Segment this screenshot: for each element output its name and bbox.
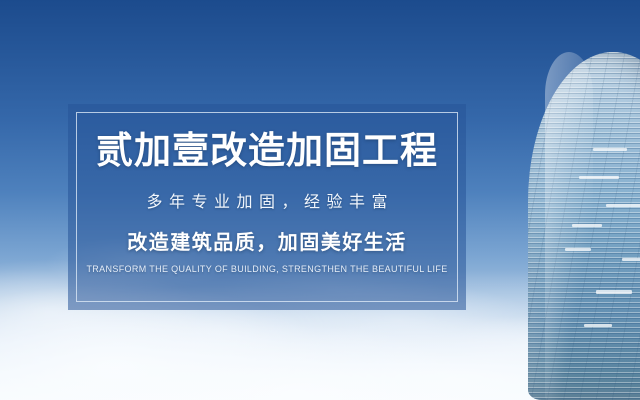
skyscraper-window: [596, 290, 632, 294]
skyscraper-window: [565, 248, 591, 251]
skyscraper-image: [510, 0, 640, 400]
skyscraper-window: [622, 258, 640, 261]
skyscraper-body: [528, 52, 640, 400]
english-tagline-text: TRANSFORM THE QUALITY OF BUILDING, STREN…: [86, 264, 447, 274]
hero-text-panel: 贰加壹改造加固工程 多年专业加固，经验丰富 改造建筑品质，加固美好生活 TRAN…: [68, 104, 466, 310]
subtitle-text: 多年专业加固，经验丰富: [140, 188, 394, 212]
panel-content: 贰加壹改造加固工程 多年专业加固，经验丰富 改造建筑品质，加固美好生活 TRAN…: [68, 104, 466, 310]
skyscraper-window: [584, 324, 612, 327]
skyscraper-window: [579, 176, 619, 179]
tagline-text: 改造建筑品质，加固美好生活: [127, 226, 407, 255]
skyscraper-window: [606, 204, 640, 207]
skyscraper-window: [593, 148, 627, 151]
skyscraper-window: [572, 224, 602, 227]
hero-banner: 贰加壹改造加固工程 多年专业加固，经验丰富 改造建筑品质，加固美好生活 TRAN…: [0, 0, 640, 400]
page-title: 贰加壹改造加固工程: [96, 130, 438, 171]
